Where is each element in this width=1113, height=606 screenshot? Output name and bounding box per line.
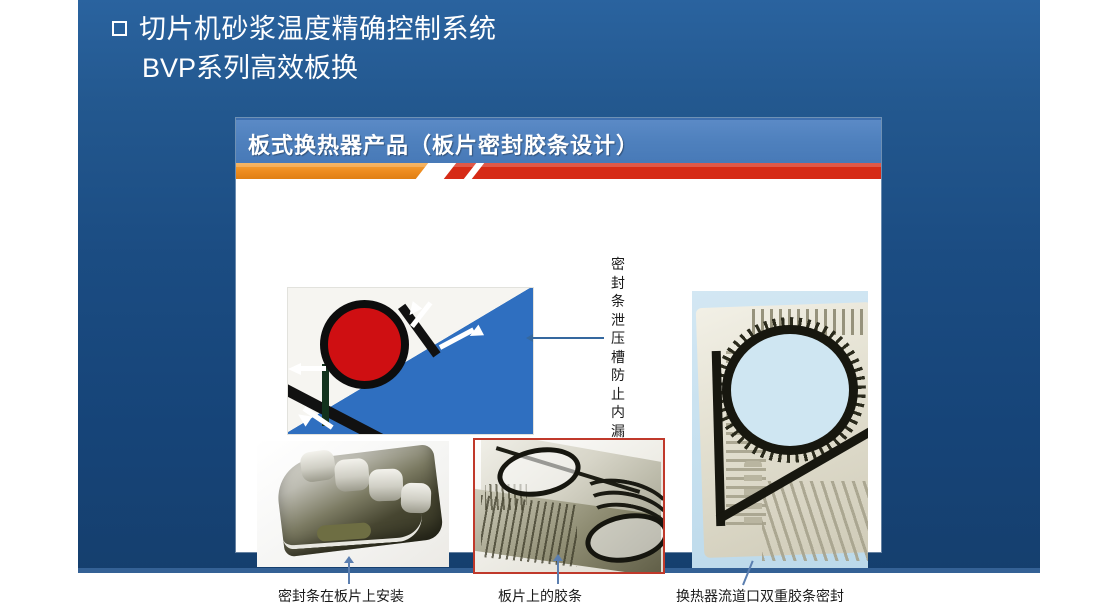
diagram-gasket-stem	[322, 364, 329, 426]
panel-header: 板式换热器产品（板片密封胶条设计）	[236, 118, 881, 165]
title-line-1: 切片机砂浆温度精确控制系统	[112, 12, 852, 46]
vertical-char: 内	[607, 403, 629, 422]
diagram-arrow-head-1	[288, 363, 301, 375]
panel-body: 密 封 条 泄 压 槽 防 止 内 漏	[236, 179, 881, 552]
vertical-char: 止	[607, 385, 629, 404]
vertical-annotation-label: 密 封 条 泄 压 槽 防 止 内 漏	[607, 255, 629, 440]
caption-plate-stack: 板片上的胶条	[498, 586, 582, 606]
vertical-char: 封	[607, 274, 629, 293]
diagram-gasket-circle	[320, 300, 409, 389]
plate-ridge	[299, 449, 337, 483]
page-subtitle: BVP系列高效板换	[142, 51, 852, 85]
page-title: 切片机砂浆温度精确控制系统	[139, 12, 497, 46]
panel-header-title: 板式换热器产品（板片密封胶条设计）	[248, 128, 639, 160]
plate-ridge	[400, 482, 431, 513]
leader-line-to-vertical-label	[532, 337, 604, 339]
caption-port-detail: 换热器流道口双重胶条密封	[676, 586, 844, 606]
slide-title-block: 切片机砂浆温度精确控制系统 BVP系列高效板换	[112, 12, 852, 85]
port-gasket-ring	[722, 325, 858, 455]
cross-section-diagram	[287, 287, 534, 435]
plate-ridge	[368, 468, 403, 501]
vertical-char: 防	[607, 366, 629, 385]
plate-corrugation	[762, 481, 868, 561]
port-detail-photo	[692, 291, 868, 568]
vertical-char: 槽	[607, 348, 629, 367]
vertical-char: 泄	[607, 311, 629, 330]
accent-highlight	[236, 163, 881, 167]
plate-edge-photo	[257, 441, 449, 567]
caption-leader-arrow-1	[348, 562, 350, 584]
caption-leader-arrow-2	[557, 560, 559, 584]
caption-plate-edge: 密封条在板片上安装	[278, 586, 404, 606]
vertical-char: 压	[607, 329, 629, 348]
plate-ridge	[334, 458, 371, 493]
vertical-char: 密	[607, 255, 629, 274]
vertical-char: 条	[607, 292, 629, 311]
panel-accent-bar	[236, 163, 881, 179]
slide-canvas: 切片机砂浆温度精确控制系统 BVP系列高效板换 板式换热器产品（板片密封胶条设计…	[0, 0, 1113, 584]
square-bullet-icon	[112, 21, 127, 36]
plate-stack-photo	[473, 438, 665, 574]
content-panel: 板式换热器产品（板片密封胶条设计）	[236, 118, 881, 552]
